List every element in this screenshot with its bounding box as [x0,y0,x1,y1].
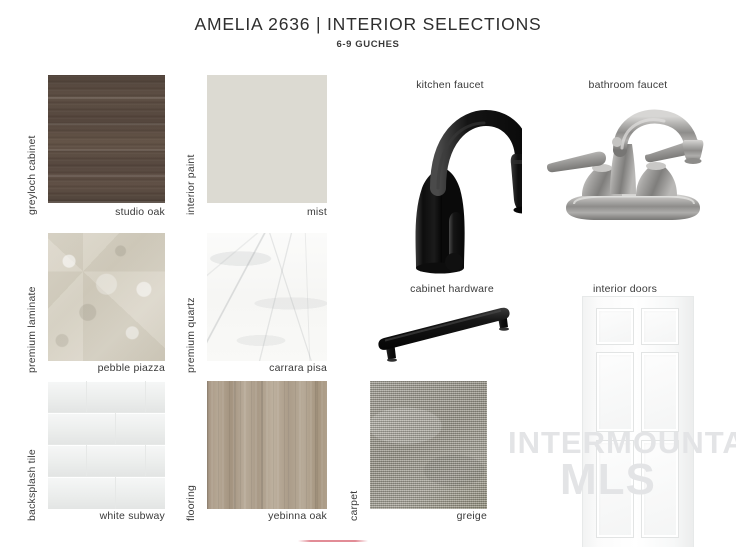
bathroom-faucet-image[interactable] [540,100,730,230]
bottom-accent-line [298,540,368,542]
kitchen-faucet-image[interactable] [382,96,522,281]
selection-side-label-premium-quartz: premium quartz [185,297,197,373]
page-header: AMELIA 2636 | INTERIOR SELECTIONS 6-9 GU… [0,14,736,50]
selection-caption-carrara-pisa: carrara pisa [207,362,327,374]
selection-side-label-carpet: carpet [348,491,360,521]
selection-side-label-flooring: flooring [185,485,197,521]
door-panel-bottom-right [641,440,679,538]
interior-door-image[interactable] [583,297,693,547]
selection-caption-mist: mist [207,206,327,218]
selection-side-label-premium-laminate: premium laminate [26,286,38,373]
selection-caption-pebble-piazza: pebble piazza [45,362,165,374]
swatch-yebinna-oak[interactable] [207,381,327,509]
door-panel-mid-right [641,352,679,432]
selection-side-label-backsplash-tile: backsplash tile [26,449,38,521]
selection-caption-studio-oak: studio oak [45,206,165,218]
page-title: AMELIA 2636 | INTERIOR SELECTIONS [0,14,736,35]
selection-caption-white-subway: white subway [45,510,165,522]
page-subtitle: 6-9 GUCHES [0,39,736,50]
door-panel-top-left [596,308,634,345]
swatch-mist[interactable] [207,75,327,203]
swatch-greige[interactable] [370,381,487,509]
selection-caption-yebinna-oak: yebinna oak [207,510,327,522]
cabinet-hardware-image[interactable] [375,300,520,365]
swatch-white-subway[interactable] [48,381,165,509]
product-label-interior-doors: interior doors [565,283,685,295]
selection-side-label-interior-paint: interior paint [185,154,197,215]
door-panel-mid-left [596,352,634,432]
selection-caption-greige: greige [367,510,487,522]
door-panel-bottom-left [596,440,634,538]
door-panel-top-right [641,308,679,345]
swatch-studio-oak[interactable] [48,75,165,203]
product-label-cabinet-hardware: cabinet hardware [382,283,522,295]
swatch-carrara-pisa[interactable] [207,233,327,361]
swatch-pebble-piazza[interactable] [48,233,165,361]
product-label-bathroom-faucet: bathroom faucet [558,79,698,91]
selection-side-label-greyloch-cabinet: greyloch cabinet [26,135,38,215]
product-label-kitchen-faucet: kitchen faucet [380,79,520,91]
